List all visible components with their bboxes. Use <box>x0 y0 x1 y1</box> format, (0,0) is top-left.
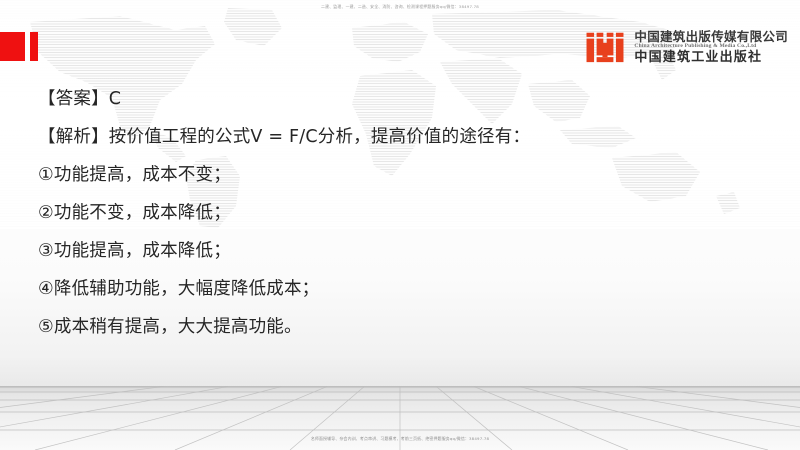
explanation-item-3: ③功能提高，成本降低； <box>38 232 758 270</box>
china-architecture-press-logo-icon <box>584 26 626 68</box>
explanation-item-5: ⑤成本稍有提高，大大提高功能。 <box>38 308 758 346</box>
accent-red-block <box>0 32 25 61</box>
explanation-line: 【解析】按价值工程的公式V = F/C分析，提高价值的途径有： <box>38 118 758 156</box>
explanation-item-1: ①功能提高，成本不变； <box>38 156 758 194</box>
watermark-bottom: 名师面授辅导、杂会内训、考点串讲、习题模考、考前三页纸、绝密押题服务qq/微信：… <box>0 436 800 442</box>
watermark-top: 二建、监理、一建、二造、安全、消防、咨询、检测课程押题服务qq/微信：38497… <box>0 4 800 10</box>
publisher-company-en: China Architecture Publishing & Media Co… <box>634 44 788 50</box>
answer-explanation-body: 【答案】C 【解析】按价值工程的公式V = F/C分析，提高价值的途径有： ①功… <box>38 80 758 346</box>
publisher-press-cn: 中国建筑工业出版社 <box>634 51 788 65</box>
publisher-logo-text: 中国建筑出版传媒有限公司 China Architecture Publishi… <box>634 30 788 65</box>
presentation-slide: 中国建筑出版传媒有限公司 China Architecture Publishi… <box>0 0 800 450</box>
explanation-item-4: ④降低辅助功能，大幅度降低成本； <box>38 270 758 308</box>
explanation-item-2: ②功能不变，成本降低； <box>38 194 758 232</box>
publisher-company-cn: 中国建筑出版传媒有限公司 <box>634 30 788 43</box>
publisher-logo: 中国建筑出版传媒有限公司 China Architecture Publishi… <box>584 26 788 68</box>
accent-red-bar <box>30 32 38 61</box>
answer-line: 【答案】C <box>38 80 758 118</box>
